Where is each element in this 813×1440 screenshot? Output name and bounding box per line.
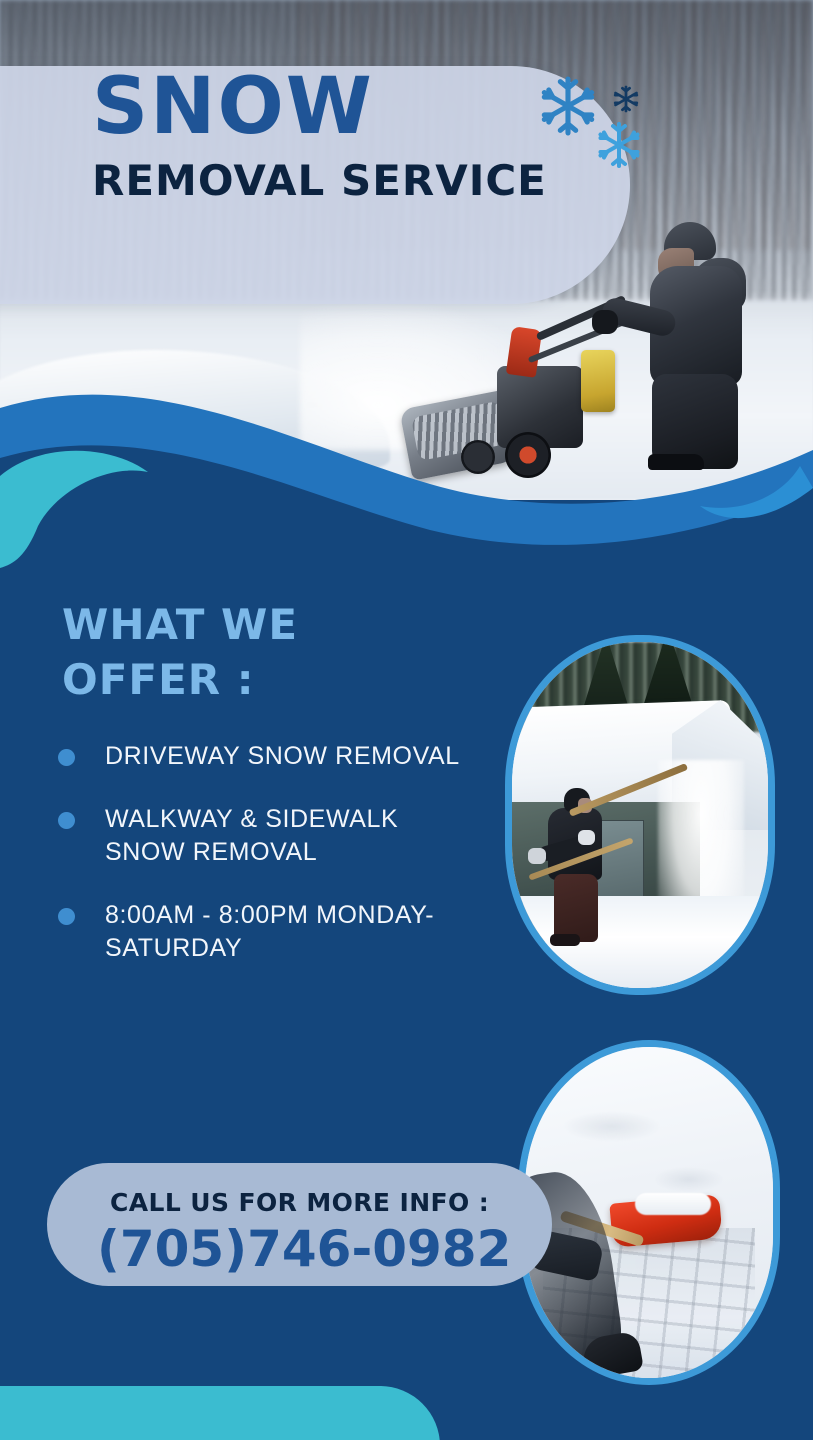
- snow-removal-flyer: SNOW REMOVAL SERVICE: [0, 0, 813, 1440]
- snowflake-medium-icon: [594, 120, 644, 170]
- page-title: SNOW: [92, 72, 612, 144]
- list-item: DRIVEWAY SNOW REMOVAL: [58, 740, 478, 773]
- contact-label: CALL US FOR MORE INFO :: [110, 1188, 489, 1217]
- list-item: 8:00AM - 8:00PM MONDAY-SATURDAY: [58, 899, 478, 965]
- page-subtitle: REMOVAL SERVICE: [92, 160, 612, 202]
- snowflake-large-icon: [536, 74, 600, 138]
- bullet-icon: [58, 908, 75, 925]
- operator-glove: [592, 310, 618, 334]
- title-block: SNOW REMOVAL SERVICE: [92, 72, 612, 202]
- photo1-person-boot: [550, 934, 580, 946]
- offer-item-label: DRIVEWAY SNOW REMOVAL: [105, 740, 460, 773]
- wave-divider: [0, 380, 813, 570]
- offer-heading: WHAT WE OFFER :: [62, 598, 392, 707]
- photo-roof-snow-raking: [505, 635, 775, 995]
- contact-phone-number[interactable]: (705)746-0982: [97, 1220, 511, 1278]
- offer-item-label: 8:00AM - 8:00PM MONDAY-SATURDAY: [105, 899, 478, 965]
- photo1-person-glove: [528, 848, 546, 864]
- list-item: WALKWAY & SIDEWALK SNOW REMOVAL: [58, 803, 478, 869]
- offer-heading-line1: WHAT WE: [62, 598, 392, 653]
- photo-shovel-walkway: [518, 1040, 780, 1385]
- offer-heading-line2: OFFER :: [62, 653, 392, 708]
- offer-item-label: WALKWAY & SIDEWALK SNOW REMOVAL: [105, 803, 478, 869]
- bullet-icon: [58, 749, 75, 766]
- photo1-person-glove: [578, 830, 595, 845]
- snowflake-small-icon: [611, 84, 641, 114]
- offer-list: DRIVEWAY SNOW REMOVAL WALKWAY & SIDEWALK…: [58, 740, 478, 995]
- photo2-shovel-snow-load: [635, 1193, 711, 1215]
- photo1-person-legs: [554, 874, 598, 942]
- bullet-icon: [58, 812, 75, 829]
- bottom-teal-shape: [0, 1386, 440, 1440]
